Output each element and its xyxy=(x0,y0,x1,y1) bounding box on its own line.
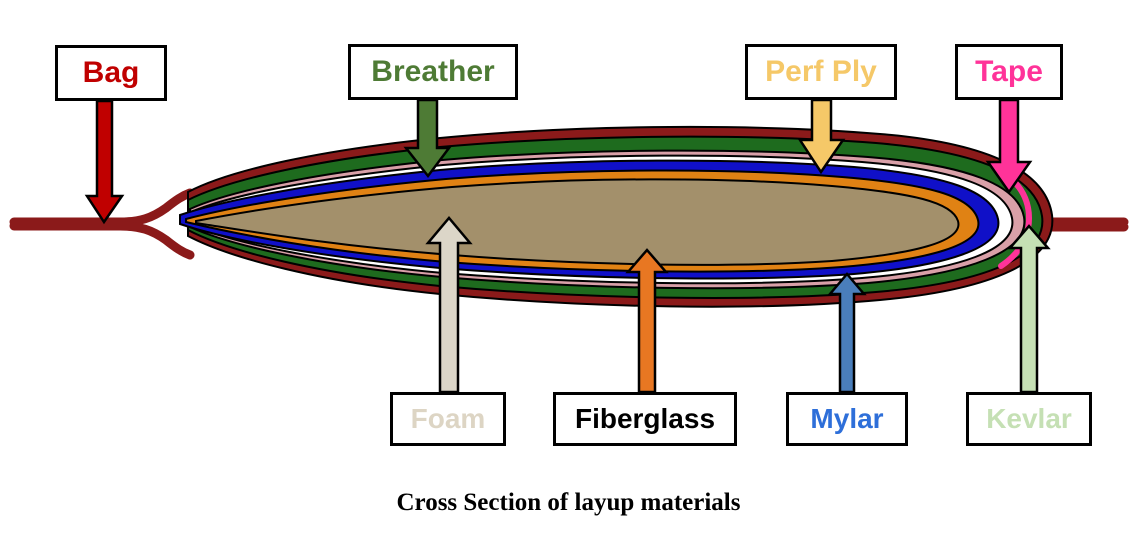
mylar-arrow xyxy=(830,274,864,392)
bag-arrow xyxy=(87,101,122,222)
label-box-tape[interactable]: Tape xyxy=(955,44,1063,100)
label-text-breather: Breather xyxy=(371,57,494,87)
diagram-stage: Bag Breather Perf Ply Tape Foam Fibergla… xyxy=(0,0,1137,538)
label-box-breather[interactable]: Breather xyxy=(348,44,518,100)
foam-arrow xyxy=(428,218,470,392)
label-text-kevlar: Kevlar xyxy=(986,405,1072,433)
label-text-perf-ply: Perf Ply xyxy=(765,57,877,87)
label-box-bag[interactable]: Bag xyxy=(55,45,167,101)
figure-caption: Cross Section of layup materials xyxy=(0,489,1137,517)
label-box-foam[interactable]: Foam xyxy=(390,392,506,446)
label-text-fiberglass: Fiberglass xyxy=(575,405,715,433)
label-box-perf-ply[interactable]: Perf Ply xyxy=(745,44,897,100)
label-box-mylar[interactable]: Mylar xyxy=(786,392,908,446)
label-text-foam: Foam xyxy=(411,405,486,433)
label-text-bag: Bag xyxy=(83,58,140,88)
label-text-mylar: Mylar xyxy=(810,405,883,433)
label-box-kevlar[interactable]: Kevlar xyxy=(966,392,1092,446)
label-text-tape: Tape xyxy=(975,57,1043,87)
fiberglass-arrow xyxy=(628,250,666,392)
label-box-fiberglass[interactable]: Fiberglass xyxy=(553,392,737,446)
